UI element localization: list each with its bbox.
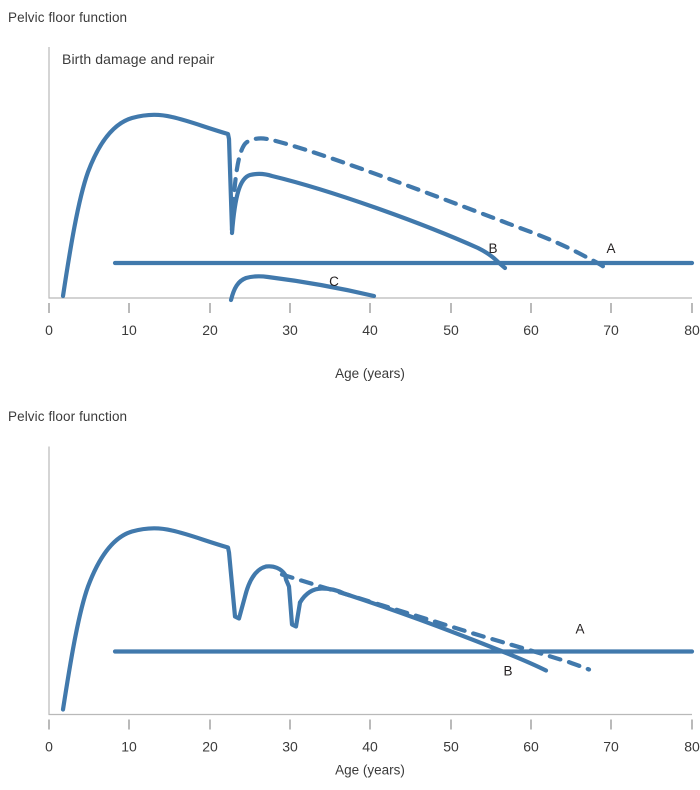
plot-area-panel-1: 0 10 20 30 40 50 60 70 80 Age (years) xyxy=(0,0,700,395)
point-label-b-panel-1: B xyxy=(488,241,497,256)
svg-text:60: 60 xyxy=(523,739,539,755)
svg-text:0: 0 xyxy=(45,739,53,755)
x-axis-tick-labels-panel-1: 0 10 20 30 40 50 60 70 80 xyxy=(45,322,700,338)
svg-text:30: 30 xyxy=(282,322,298,338)
svg-text:40: 40 xyxy=(362,739,378,755)
x-axis-ticks-panel-1 xyxy=(49,303,692,313)
plot-area-panel-2: 0 10 20 30 40 50 60 70 80 Age (years) A … xyxy=(0,395,700,790)
svg-text:80: 80 xyxy=(684,739,700,755)
svg-text:80: 80 xyxy=(684,322,700,338)
point-label-a-panel-1: A xyxy=(606,241,615,256)
x-axis-tick-labels-panel-2: 0 10 20 30 40 50 60 70 80 xyxy=(45,739,700,755)
curve-development-panel-1 xyxy=(63,115,232,296)
svg-text:30: 30 xyxy=(282,739,298,755)
point-label-c-panel-1: C xyxy=(329,274,339,289)
curve-branch-b-panel-2 xyxy=(300,589,546,671)
svg-text:10: 10 xyxy=(121,322,137,338)
svg-text:10: 10 xyxy=(121,739,137,755)
svg-text:50: 50 xyxy=(443,739,459,755)
figure-pelvic-floor-function: Pelvic floor function Birth damage and r… xyxy=(0,0,700,787)
point-label-a-panel-2: A xyxy=(575,622,584,637)
x-axis-ticks-panel-2 xyxy=(49,720,692,730)
point-label-b-panel-2: B xyxy=(503,664,512,679)
curve-branch-b-panel-1 xyxy=(232,174,505,268)
svg-text:40: 40 xyxy=(362,322,378,338)
x-axis-title-panel-1: Age (years) xyxy=(335,366,405,381)
curve-development-and-births-panel-2 xyxy=(63,528,300,709)
svg-text:50: 50 xyxy=(443,322,459,338)
svg-text:20: 20 xyxy=(202,322,218,338)
svg-text:0: 0 xyxy=(45,322,53,338)
curve-branch-a-panel-1 xyxy=(232,138,604,267)
axis-lines-panel-2 xyxy=(49,447,692,715)
svg-text:70: 70 xyxy=(603,739,619,755)
svg-text:60: 60 xyxy=(523,322,539,338)
curve-branch-c-panel-1 xyxy=(231,276,374,300)
chart-panel-two-births: Pelvic floor function 0 10 20 30 xyxy=(0,395,700,787)
svg-text:70: 70 xyxy=(603,322,619,338)
x-axis-title-panel-2: Age (years) xyxy=(335,763,405,778)
chart-panel-birth-damage-and-repair: Pelvic floor function Birth damage and r… xyxy=(0,0,700,395)
svg-text:20: 20 xyxy=(202,739,218,755)
